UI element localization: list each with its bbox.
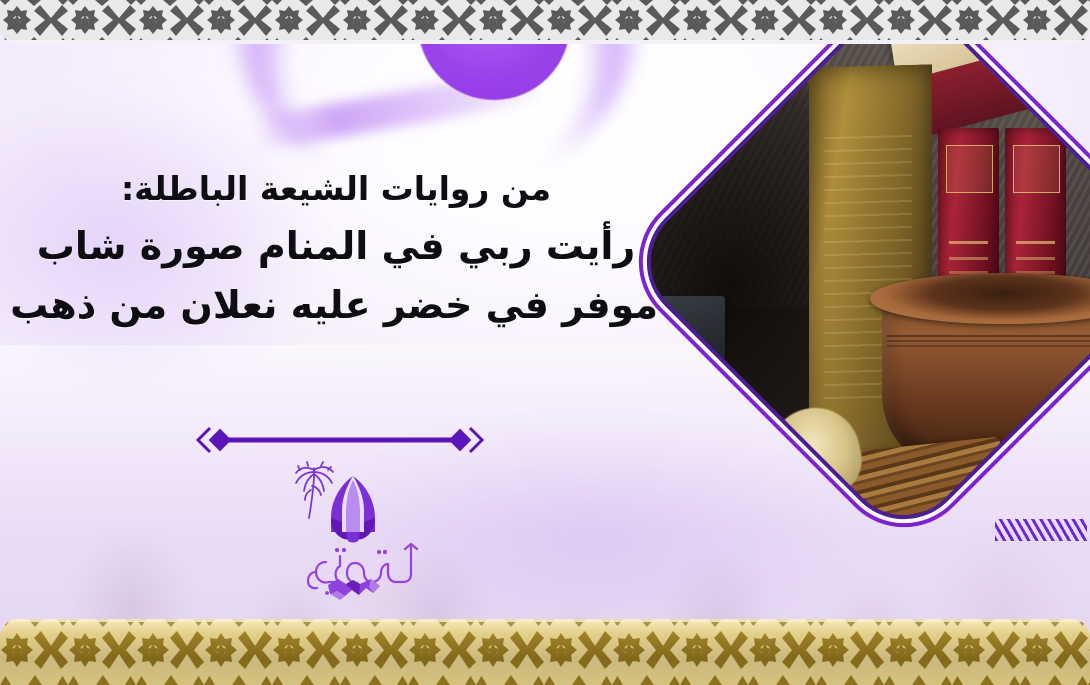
handshake-icon [326, 576, 382, 602]
bottom-border-pattern [0, 619, 1090, 685]
top-border-pattern [0, 0, 1090, 44]
poster-canvas: كتب قديمة وإناء فخاري من روايات الشيعة ا… [0, 0, 1090, 685]
clay-pot-band [887, 335, 1090, 337]
headline-line-1: من روايات الشيعة الباطلة: [14, 168, 658, 210]
headline-block: من روايات الشيعة الباطلة: رأيت ربي في ال… [0, 168, 672, 329]
headline-line-3: موفر في خضر عليه نعلان من ذهب [14, 281, 658, 330]
headline-line-2: رأيت ربي في المنام صورة شاب [14, 222, 658, 271]
palm-tree-icon [296, 462, 333, 518]
hero-photo: كتب قديمة وإناء فخاري [700, 0, 1090, 528]
diagonal-hatch-stripes-icon [995, 519, 1087, 541]
tulip-bud-logo-icon [331, 476, 375, 543]
